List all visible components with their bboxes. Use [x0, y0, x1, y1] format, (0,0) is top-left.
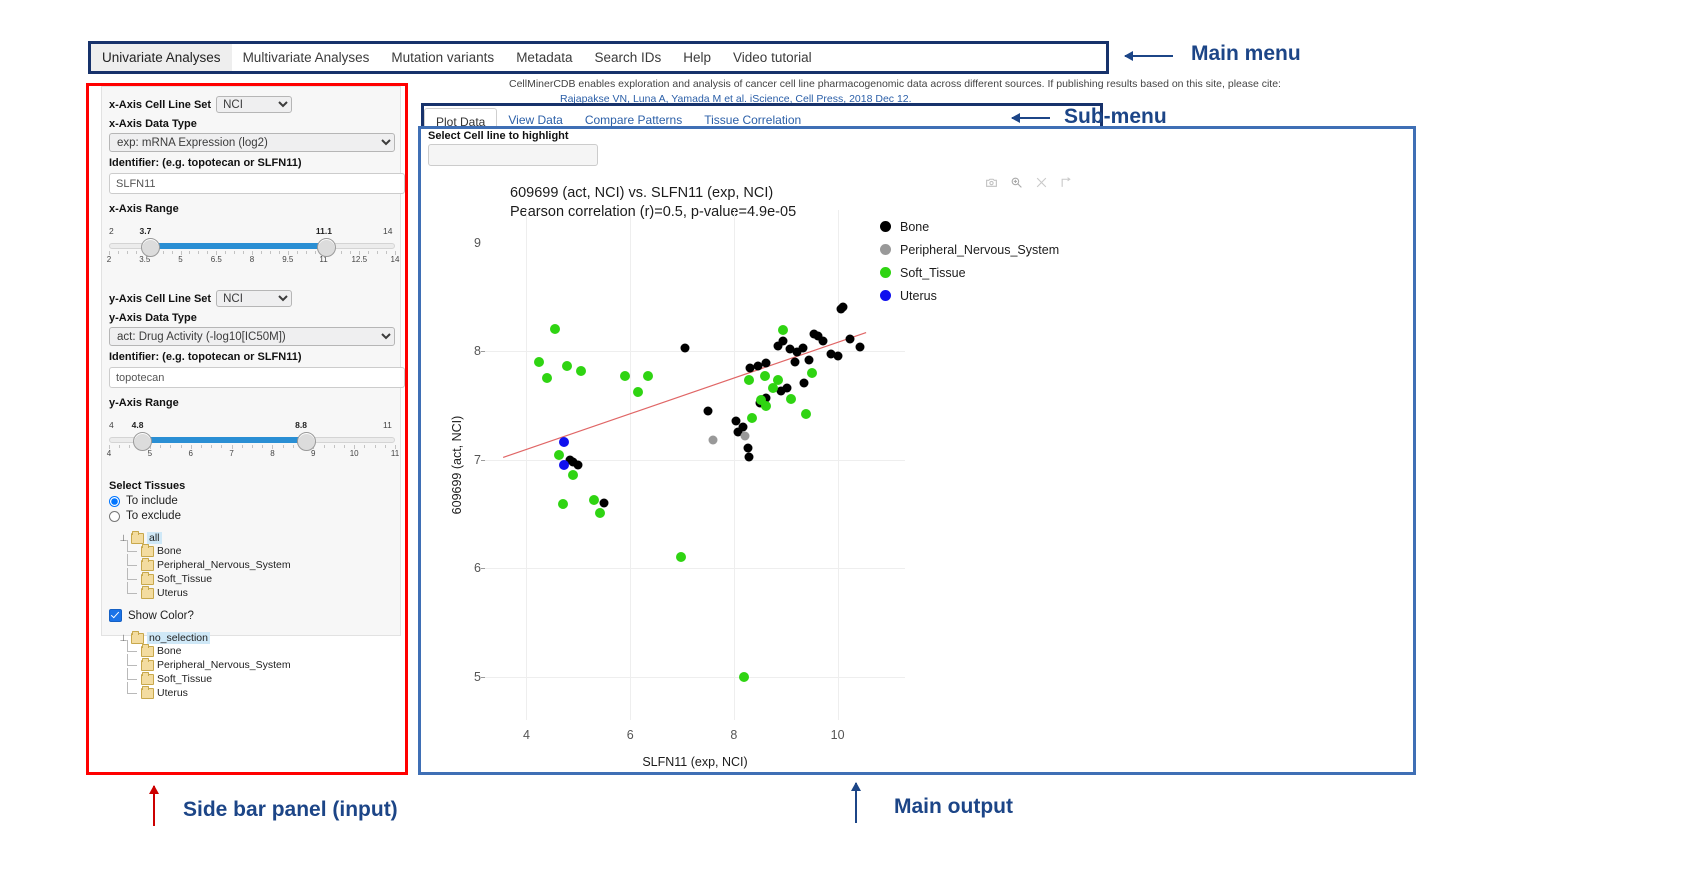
tree-child-label: Bone	[157, 645, 182, 657]
slider-min-label: 4	[109, 420, 114, 430]
checkbox-checked-icon[interactable]	[109, 609, 122, 622]
slider-minor-tick	[201, 445, 202, 448]
scatter-point[interactable]	[739, 672, 749, 682]
slider-minor-tick	[118, 251, 119, 254]
y-cell-line-set-select[interactable]: NCI	[216, 290, 292, 307]
scatter-point[interactable]	[620, 371, 630, 381]
slider-tick-label: 14	[391, 255, 400, 264]
folder-icon	[141, 646, 154, 657]
slider-minor-tick	[364, 445, 365, 448]
scatter-point[interactable]	[558, 499, 568, 509]
tissue-tree-color[interactable]: ⊥no_selectionBonePeripheral_Nervous_Syst…	[109, 632, 393, 700]
scatter-point[interactable]	[709, 436, 718, 445]
folder-icon	[141, 560, 154, 571]
sidebar-panel: x-Axis Cell Line Set NCI x-Axis Data Typ…	[101, 86, 401, 636]
x-range-group: x-Axis Range 23.556.589.51112.5143.711.1…	[109, 203, 393, 264]
legend-color-dot	[880, 290, 891, 301]
arrow-sub-menu	[1012, 117, 1050, 119]
tree-child-node[interactable]: Peripheral_Nervous_System	[109, 558, 393, 572]
scatter-point[interactable]	[786, 394, 796, 404]
scatter-point[interactable]	[681, 343, 690, 352]
x-cell-line-set-select[interactable]: NCI	[216, 96, 292, 113]
y-identifier-group: Identifier: (e.g. topotecan or SLFN11)	[109, 351, 393, 388]
scatter-point[interactable]	[838, 302, 847, 311]
legend-item-bone[interactable]: Bone	[880, 215, 1059, 238]
tree-line-stub	[127, 693, 137, 694]
scatter-point[interactable]	[799, 343, 808, 352]
tree-child-label: Peripheral_Nervous_System	[157, 559, 291, 571]
slider-minor-tick	[119, 445, 120, 448]
scatter-point[interactable]	[559, 460, 569, 470]
select-tissues-group: Select Tissues To include To exclude ⊥al…	[109, 480, 393, 700]
slider-minor-tick	[261, 251, 262, 254]
legend-item-soft_tissue[interactable]: Soft_Tissue	[880, 261, 1059, 284]
main-menu-item-univariate-analyses[interactable]: Univariate Analyses	[91, 44, 232, 71]
scatter-point[interactable]	[562, 361, 572, 371]
slider-minor-tick	[129, 445, 130, 448]
scatter-point[interactable]	[762, 359, 771, 368]
x-tick-label: 8	[730, 728, 737, 742]
slider-handle-high-value: 8.8	[295, 420, 307, 430]
legend-color-dot	[880, 244, 891, 255]
x-cell-line-set-row: x-Axis Cell Line Set NCI	[109, 96, 393, 113]
slider-tick-label: 2	[107, 255, 111, 264]
tree-line	[127, 568, 128, 579]
scatter-point[interactable]	[791, 357, 800, 366]
slider-fill	[142, 437, 305, 443]
legend-color-dot	[880, 267, 891, 278]
slider-tick-label: 5	[148, 449, 152, 458]
tree-line	[127, 540, 128, 551]
tissue-tree-include[interactable]: ⊥allBonePeripheral_Nervous_SystemSoft_Ti…	[109, 532, 393, 600]
slider-minor-tick	[375, 445, 376, 448]
folder-icon	[141, 688, 154, 699]
tree-line	[127, 654, 128, 665]
main-menu-item-video-tutorial[interactable]: Video tutorial	[722, 44, 823, 71]
folder-icon	[141, 588, 154, 599]
slider-minor-tick	[243, 251, 244, 254]
x-identifier-input[interactable]	[109, 173, 405, 194]
slider-handle-low-value: 4.8	[132, 420, 144, 430]
tree-root-label: no_selection	[147, 632, 210, 644]
arrow-main-menu	[1125, 55, 1173, 57]
slider-minor-tick	[181, 445, 182, 448]
slider-minor-tick	[160, 445, 161, 448]
y-tick-label: 8	[474, 344, 481, 358]
slider-minor-tick	[234, 251, 235, 254]
scatter-point[interactable]	[745, 453, 754, 462]
tree-child-node[interactable]: Peripheral_Nervous_System	[109, 658, 393, 672]
tree-child-label: Soft_Tissue	[157, 673, 212, 685]
tree-line	[127, 582, 128, 593]
tree-line	[127, 682, 128, 693]
slider-minor-tick	[242, 445, 243, 448]
folder-icon	[141, 546, 154, 557]
y-tick-label: 9	[474, 236, 481, 250]
radio-to-include-row[interactable]: To include	[109, 495, 393, 507]
scatter-point[interactable]	[559, 437, 569, 447]
annotation-main-menu: Main menu	[1191, 42, 1301, 66]
slider-minor-tick	[136, 251, 137, 254]
y-tick-label: 5	[474, 670, 481, 684]
scatter-point[interactable]	[756, 395, 766, 405]
slider-minor-tick	[163, 251, 164, 254]
legend-label: Peripheral_Nervous_System	[900, 243, 1059, 257]
slider-handle-low-value: 3.7	[140, 226, 152, 236]
slider-minor-tick	[221, 445, 222, 448]
radio-to-exclude[interactable]	[109, 511, 120, 522]
x-data-type-label: x-Axis Data Type	[109, 118, 393, 130]
legend-color-dot	[880, 221, 891, 232]
arrow-sidebar	[153, 786, 155, 826]
slider-minor-tick	[127, 251, 128, 254]
slider-tick-label: 4	[107, 449, 111, 458]
tree-root-node[interactable]: ⊥no_selection	[109, 632, 393, 644]
slider-handle-high[interactable]	[317, 238, 336, 257]
main-menu[interactable]: Univariate AnalysesMultivariate Analyses…	[88, 41, 1109, 74]
legend-label: Uterus	[900, 289, 937, 303]
slider-handle-high[interactable]	[297, 432, 316, 451]
slider-tick-label: 6.5	[211, 255, 222, 264]
show-color-row[interactable]: Show Color?	[109, 609, 393, 622]
slider-handle-high-value: 11.1	[316, 226, 332, 236]
scatter-point[interactable]	[550, 324, 560, 334]
slider-minor-tick	[211, 445, 212, 448]
y-cell-line-set-label: y-Axis Cell Line Set	[109, 293, 211, 305]
scatter-point[interactable]	[534, 357, 544, 367]
tree-line-stub	[127, 679, 137, 680]
tree-child-label: Soft_Tissue	[157, 573, 212, 585]
main-menu-item-multivariate-analyses[interactable]: Multivariate Analyses	[232, 44, 381, 71]
y-tick-label: 6	[474, 561, 481, 575]
scatter-point[interactable]	[744, 443, 753, 452]
scatter-point[interactable]	[760, 371, 770, 381]
slider-tick-label: 9.5	[282, 255, 293, 264]
scatter-point[interactable]	[846, 335, 855, 344]
scatter-point[interactable]	[741, 431, 750, 440]
plot-axes: 609699 (act, NCI) SLFN11 (exp, NCI) 4681…	[485, 210, 905, 720]
scatter-point[interactable]	[633, 387, 643, 397]
tree-line	[127, 668, 128, 679]
x-tick-label: 4	[523, 728, 530, 742]
slider-tick-label: 8	[250, 255, 254, 264]
plot-title: 609699 (act, NCI) vs. SLFN11 (exp, NCI)	[425, 184, 1125, 203]
scatter-point[interactable]	[595, 508, 605, 518]
y-cell-line-set-row: y-Axis Cell Line Set NCI	[109, 290, 393, 307]
scatter-point[interactable]	[542, 373, 552, 383]
slider-minor-tick	[270, 251, 271, 254]
scatter-point[interactable]	[744, 375, 754, 385]
slider-tick-label: 12.5	[351, 255, 367, 264]
x-tick-label: 6	[627, 728, 634, 742]
scatter-point[interactable]	[799, 378, 808, 387]
scatter-point[interactable]	[600, 498, 609, 507]
radio-to-include[interactable]	[109, 496, 120, 507]
tree-line-stub	[127, 593, 137, 594]
slider-minor-tick	[344, 445, 345, 448]
tree-child-node[interactable]: Uterus	[109, 686, 393, 700]
slider-minor-tick	[368, 251, 369, 254]
slider-tick-label: 11	[391, 449, 399, 458]
slider-tick-label: 7	[229, 449, 233, 458]
slider-minor-tick	[279, 251, 280, 254]
main-menu-item-metadata[interactable]: Metadata	[505, 44, 583, 71]
slider-minor-tick	[377, 251, 378, 254]
slider-tick-label: 5	[178, 255, 182, 264]
highlight-label: Select Cell line to highlight	[428, 130, 569, 142]
slider-minor-tick	[189, 251, 190, 254]
slider-minor-tick	[350, 251, 351, 254]
slider-fill	[150, 243, 326, 249]
tree-root-label: all	[147, 532, 162, 544]
slider-minor-tick	[315, 251, 316, 254]
slider-minor-tick	[293, 445, 294, 448]
legend-label: Bone	[900, 220, 929, 234]
slider-minor-tick	[297, 251, 298, 254]
tree-line-stub	[127, 579, 137, 580]
y-range-label: y-Axis Range	[109, 397, 393, 409]
tree-line-stub	[127, 551, 137, 552]
trendline	[485, 210, 905, 720]
y-identifier-label: Identifier: (e.g. topotecan or SLFN11)	[109, 351, 393, 363]
folder-icon	[141, 660, 154, 671]
x-data-type-select[interactable]: exp: mRNA Expression (log2)	[109, 133, 395, 152]
folder-icon	[141, 674, 154, 685]
scatter-point[interactable]	[574, 461, 583, 470]
arrow-main-output	[855, 783, 857, 823]
folder-icon	[131, 533, 144, 544]
scatter-point[interactable]	[576, 366, 586, 376]
tree-child-label: Bone	[157, 545, 182, 557]
slider-minor-tick	[262, 445, 263, 448]
scatter-point[interactable]	[676, 552, 686, 562]
show-color-label: Show Color?	[128, 610, 194, 622]
slider-max-label: 11	[383, 420, 392, 430]
slider-minor-tick	[386, 251, 387, 254]
annotation-main-output: Main output	[894, 795, 1013, 819]
y-range-group: y-Axis Range 45678910114.88.8411	[109, 397, 393, 458]
slider-minor-tick	[324, 445, 325, 448]
legend-item-uterus[interactable]: Uterus	[880, 284, 1059, 307]
select-tissues-label: Select Tissues	[109, 480, 393, 492]
tree-root-node[interactable]: ⊥all	[109, 532, 393, 544]
tree-line-stub	[127, 651, 137, 652]
x-identifier-label: Identifier: (e.g. topotecan or SLFN11)	[109, 157, 393, 169]
scatter-point[interactable]	[801, 409, 811, 419]
slider-minor-tick	[172, 251, 173, 254]
y-data-type-label: y-Axis Data Type	[109, 312, 393, 324]
scatter-point[interactable]	[773, 375, 783, 385]
tree-child-label: Uterus	[157, 687, 188, 699]
tree-line	[127, 640, 128, 651]
plot-legend[interactable]: BonePeripheral_Nervous_SystemSoft_Tissue…	[880, 215, 1059, 307]
scatter-point[interactable]	[807, 368, 817, 378]
tree-child-node[interactable]: Uterus	[109, 586, 393, 600]
slider-minor-tick	[385, 445, 386, 448]
legend-label: Soft_Tissue	[900, 266, 966, 280]
legend-item-peripheral_nervous_system[interactable]: Peripheral_Nervous_System	[880, 238, 1059, 261]
radio-to-include-label: To include	[126, 495, 178, 507]
tree-child-label: Uterus	[157, 587, 188, 599]
slider-minor-tick	[341, 251, 342, 254]
y-data-type-select[interactable]: act: Drug Activity (-log10[IC50M])	[109, 327, 395, 346]
x-identifier-group: Identifier: (e.g. topotecan or SLFN11)	[109, 157, 393, 194]
main-menu-item-search-ids[interactable]: Search IDs	[583, 44, 672, 71]
tree-child-node[interactable]: Bone	[109, 544, 393, 558]
tree-child-node[interactable]: Bone	[109, 644, 393, 658]
y-range-slider[interactable]: 45678910114.88.8411	[109, 420, 395, 458]
folder-icon	[131, 633, 144, 644]
main-menu-item-help[interactable]: Help	[672, 44, 722, 71]
scatter-point[interactable]	[554, 450, 564, 460]
slider-minor-tick	[334, 445, 335, 448]
slider-minor-tick	[283, 445, 284, 448]
slider-minor-tick	[225, 251, 226, 254]
annotation-sidebar: Side bar panel (input)	[183, 798, 398, 822]
y-tick-label: 7	[474, 453, 481, 467]
slider-minor-tick	[207, 251, 208, 254]
y-axis-title: 609699 (act, NCI)	[450, 416, 464, 515]
slider-tick-label: 10	[350, 449, 359, 458]
scatter-point[interactable]	[855, 342, 864, 351]
tree-child-node[interactable]: Soft_Tissue	[109, 572, 393, 586]
y-data-type-group: y-Axis Data Type act: Drug Activity (-lo…	[109, 312, 393, 346]
x-cell-line-set-label: x-Axis Cell Line Set	[109, 99, 211, 111]
scatter-point[interactable]	[827, 350, 836, 359]
scatter-point[interactable]	[819, 337, 828, 346]
x-axis-title: SLFN11 (exp, NCI)	[642, 755, 747, 769]
x-range-slider[interactable]: 23.556.589.51112.5143.711.1214	[109, 226, 395, 264]
x-data-type-group: x-Axis Data Type exp: mRNA Expression (l…	[109, 118, 393, 152]
main-menu-item-mutation-variants[interactable]: Mutation variants	[380, 44, 505, 71]
scatter-plot: 609699 (act, NCI) vs. SLFN11 (exp, NCI) …	[425, 170, 1125, 770]
x-tick-label: 10	[831, 728, 845, 742]
slider-minor-tick	[252, 445, 253, 448]
slider-tick-label: 9	[311, 449, 315, 458]
radio-to-exclude-row[interactable]: To exclude	[109, 510, 393, 522]
slider-minor-tick	[170, 445, 171, 448]
slider-handle-low[interactable]	[141, 238, 160, 257]
scatter-point[interactable]	[778, 325, 788, 335]
tree-line	[127, 554, 128, 565]
radio-to-exclude-label: To exclude	[126, 510, 181, 522]
highlight-cell-line-input[interactable]	[428, 144, 598, 166]
y-identifier-input[interactable]	[109, 367, 405, 388]
folder-icon	[141, 574, 154, 585]
tree-child-label: Peripheral_Nervous_System	[157, 659, 291, 671]
slider-minor-tick	[198, 251, 199, 254]
annotation-sub-menu: Sub-menu	[1064, 105, 1167, 129]
slider-tick-label: 6	[188, 449, 192, 458]
scatter-point[interactable]	[703, 406, 712, 415]
tree-line-stub	[127, 665, 137, 666]
scatter-point[interactable]	[589, 495, 599, 505]
tree-child-node[interactable]: Soft_Tissue	[109, 672, 393, 686]
slider-min-label: 2	[109, 226, 114, 236]
scatter-point[interactable]	[805, 355, 814, 364]
scatter-point[interactable]	[747, 413, 757, 423]
slider-tick-label: 8	[270, 449, 274, 458]
citation-text: CellMinerCDB enables exploration and ana…	[509, 78, 1609, 90]
x-range-label: x-Axis Range	[109, 203, 393, 215]
scatter-point[interactable]	[568, 470, 578, 480]
tree-line-stub	[127, 565, 137, 566]
scatter-point[interactable]	[643, 371, 653, 381]
slider-max-label: 14	[383, 226, 392, 236]
slider-minor-tick	[306, 251, 307, 254]
